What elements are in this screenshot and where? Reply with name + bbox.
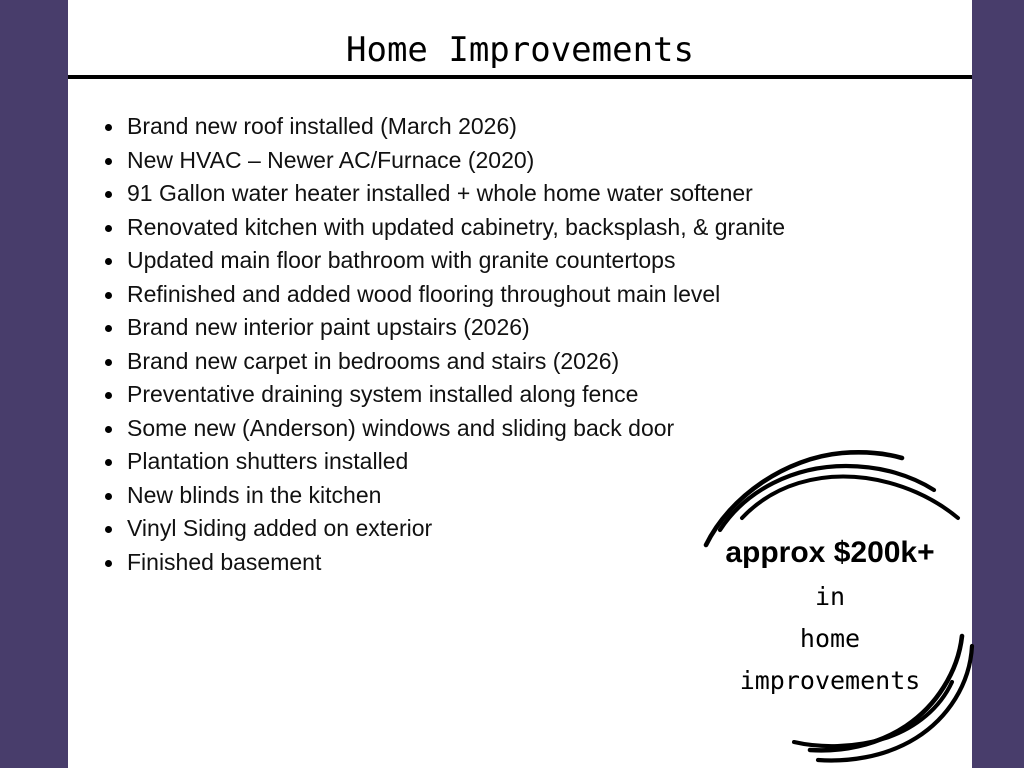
callout-line-in: in <box>690 582 970 611</box>
list-item-label: Some new (Anderson) windows and sliding … <box>127 415 674 441</box>
list-item-label: Updated main floor bathroom with granite… <box>127 247 675 273</box>
list-item-label: Preventative draining system installed a… <box>127 381 638 407</box>
list-item-label: Plantation shutters installed <box>127 448 408 474</box>
list-item-label: Brand new interior paint upstairs (2026) <box>127 314 530 340</box>
decorative-band-left <box>0 0 68 768</box>
list-item-label: Refinished and added wood flooring throu… <box>127 281 720 307</box>
list-item-label: Renovated kitchen with updated cabinetry… <box>127 214 785 240</box>
list-item: Refinished and added wood flooring throu… <box>98 278 948 312</box>
list-item-label: New blinds in the kitchen <box>127 482 381 508</box>
callout-line-home: home <box>690 624 970 653</box>
list-item: 91 Gallon water heater installed + whole… <box>98 177 948 211</box>
list-item-label: New HVAC – Newer AC/Furnace (2020) <box>127 147 534 173</box>
list-item-label: Brand new carpet in bedrooms and stairs … <box>127 348 619 374</box>
list-item: Updated main floor bathroom with granite… <box>98 244 948 278</box>
list-item-label: Finished basement <box>127 549 321 575</box>
title-divider-rule <box>68 75 972 79</box>
list-item: Preventative draining system installed a… <box>98 378 948 412</box>
slide-title: Home Improvements <box>68 28 972 72</box>
list-item: Brand new roof installed (March 2026) <box>98 110 948 144</box>
list-item: Brand new carpet in bedrooms and stairs … <box>98 345 948 379</box>
cost-callout-badge: approx $200k+ in home improvements <box>690 440 980 760</box>
slide-canvas: Home Improvements Brand new roof install… <box>0 0 1024 768</box>
list-item: Renovated kitchen with updated cabinetry… <box>98 211 948 245</box>
list-item-label: 91 Gallon water heater installed + whole… <box>127 180 753 206</box>
list-item: New HVAC – Newer AC/Furnace (2020) <box>98 144 948 178</box>
list-item-label: Vinyl Siding added on exterior <box>127 515 432 541</box>
list-item-label: Brand new roof installed (March 2026) <box>127 113 517 139</box>
list-item: Brand new interior paint upstairs (2026) <box>98 311 948 345</box>
callout-line-improvements: improvements <box>690 666 970 695</box>
callout-amount: approx $200k+ <box>690 536 970 570</box>
